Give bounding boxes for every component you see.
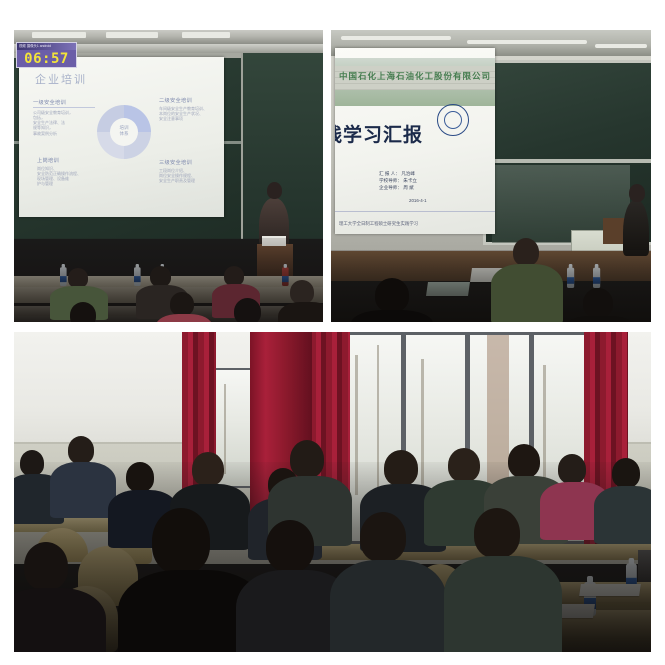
photo-top-right[interactable]: 中国石化上海石油化工股份有限公司 践学习汇报 汇 报 人： 凡治峰 学校导师： … bbox=[331, 30, 651, 322]
photo-bottom-audience[interactable] bbox=[14, 332, 651, 652]
banner-text: 中国石化上海石油化工股份有限公司 bbox=[339, 70, 491, 82]
slide-meta: 汇 报 人： 凡治峰 学校导师： 朱卡立 企业导师： 周 斌 bbox=[379, 170, 417, 191]
photo-top-left[interactable]: 企业培训 培训 体系 一级安全培训 公司级安全教育培训， 包括， 安全生产法律、… bbox=[14, 30, 323, 322]
slide-block-3: 三级安全培训 工段岗位介绍、 岗位安全操作规程、 安全生产职责及管理 bbox=[159, 161, 221, 183]
recording-timer-overlay[interactable]: 视频 摄像头1 android 06:57 bbox=[16, 42, 77, 68]
ceiling-lamp bbox=[341, 36, 451, 40]
ceiling-lamp bbox=[467, 40, 587, 44]
presenter-head bbox=[267, 182, 282, 199]
university-logo-icon bbox=[437, 104, 469, 136]
timer-value: 06:57 bbox=[17, 50, 76, 69]
slide-footer: 理工大学全日制工程硕士研究生实践学习 bbox=[335, 211, 495, 224]
slide-main-title: 践学习汇报 bbox=[335, 120, 423, 147]
tree bbox=[224, 384, 226, 474]
slide-header-banner: 中国石化上海石油化工股份有限公司 bbox=[335, 58, 495, 106]
slide-title: 企业培训 bbox=[35, 71, 87, 87]
slide-block-4: 上岗培训 岗位知识、 安全防范正确操作流程、 现场管理、设备维 护与管理 bbox=[37, 159, 99, 187]
slide-block-2: 二级安全培训 车间级安全生产教育培训、 本岗位的安全生产状况、 安全注意事项 bbox=[159, 99, 221, 121]
chalkboard-rail bbox=[486, 159, 651, 163]
timer-title-bar: 视频 摄像头1 android bbox=[17, 43, 76, 50]
donut-center-label: 培训 体系 bbox=[99, 125, 149, 137]
ceiling-lamp bbox=[182, 32, 230, 38]
ceiling-lamp bbox=[106, 32, 158, 38]
standing-attendee-head bbox=[629, 184, 645, 202]
ceiling-lamp bbox=[32, 32, 86, 38]
standing-attendee bbox=[623, 200, 649, 256]
slide-date: 2016-4-1 bbox=[409, 198, 427, 203]
photo-collage: 企业培训 培训 体系 一级安全培训 公司级安全教育培训， 包括， 安全生产法律、… bbox=[0, 0, 665, 665]
projection-screen: 中国石化上海石油化工股份有限公司 践学习汇报 汇 报 人： 凡治峰 学校导师： … bbox=[335, 48, 495, 234]
ceiling-lamp bbox=[595, 44, 647, 48]
slide-block-1: 一级安全培训 公司级安全教育培训， 包括， 安全生产法律、法 规等知识， 事故案… bbox=[33, 101, 95, 136]
projection-screen: 企业培训 培训 体系 一级安全培训 公司级安全教育培训， 包括， 安全生产法律、… bbox=[19, 57, 224, 217]
